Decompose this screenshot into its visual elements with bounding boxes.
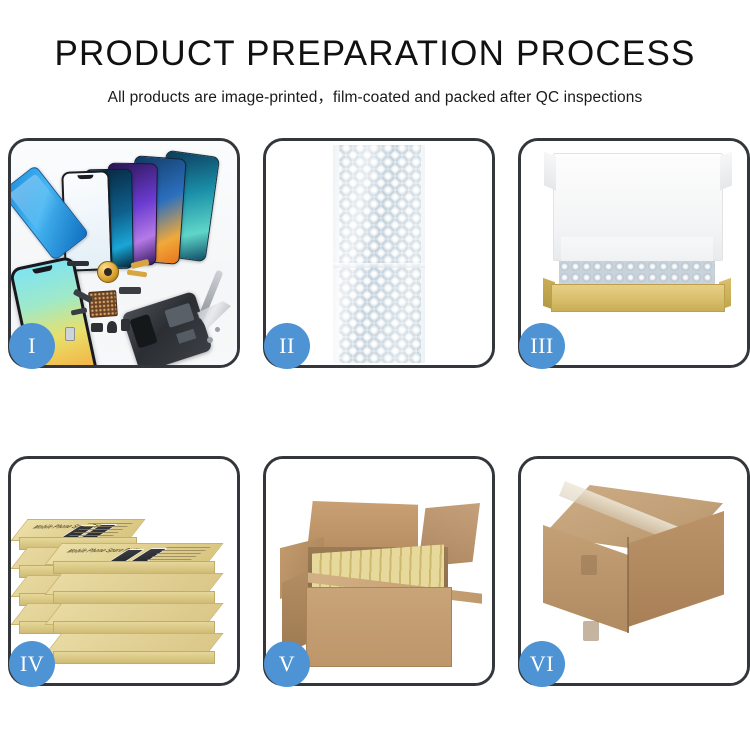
page-title: PRODUCT PREPARATION PROCESS: [0, 36, 750, 73]
box-front-face: [53, 651, 215, 664]
phone-chassis-open: [121, 291, 212, 365]
screw-part: [215, 327, 220, 332]
step-badge-i: I: [9, 323, 55, 369]
header: PRODUCT PREPARATION PROCESS All products…: [0, 0, 750, 107]
phone-notch: [77, 175, 93, 180]
spare-part-button: [91, 323, 103, 332]
kraft-box: Mobile Phone Spare Parts: [53, 543, 213, 569]
spare-part-flex-cable: [127, 270, 148, 278]
process-steps-grid: I II III: [8, 138, 742, 686]
carton-corner-seam: [627, 537, 629, 633]
step-badge-iii: III: [519, 323, 565, 369]
kraft-box: [53, 633, 213, 659]
spare-part-connector: [119, 287, 141, 294]
spare-part-speaker: [107, 321, 117, 333]
spare-part-chip: [67, 261, 89, 266]
phone-notch: [32, 265, 53, 274]
step-badge-iv: IV: [9, 641, 55, 687]
carton-front-panel: [306, 587, 452, 667]
product-preparation-infographic: PRODUCT PREPARATION PROCESS All products…: [0, 0, 750, 750]
step-panel-ii: II: [263, 138, 495, 368]
kraft-box: [53, 603, 213, 629]
connector-grid-module: [88, 290, 118, 318]
spare-part-sim-tray: [65, 327, 75, 341]
page-subtitle: All products are image-printed，film-coat…: [0, 85, 750, 107]
step-badge-v: V: [264, 641, 310, 687]
kraft-box: Mobile Phone Spare Parts: [19, 519, 135, 545]
kraft-box: [53, 573, 213, 599]
step-panel-iv: Mobile Phone Spare Parts: [8, 456, 240, 686]
step-badge-vi: VI: [519, 641, 565, 687]
step-panel-vi: VI: [518, 456, 750, 686]
carton-hand-hole: [581, 555, 597, 575]
gold-coil-part: [97, 261, 119, 283]
spare-part-camera: [121, 319, 130, 331]
step-panel-i: I: [8, 138, 240, 368]
box-front-panel: [551, 284, 725, 312]
kraft-box-stack: Mobile Phone Spare Parts: [17, 473, 237, 673]
plastic-sheen: [333, 145, 425, 363]
step-panel-v: V: [263, 456, 495, 686]
step-panel-iii: III: [518, 138, 750, 368]
carton-hand-hole: [583, 621, 599, 641]
step-badge-ii: II: [264, 323, 310, 369]
bubble-wrap-sleeve: [333, 145, 425, 363]
screw-part: [207, 337, 213, 343]
